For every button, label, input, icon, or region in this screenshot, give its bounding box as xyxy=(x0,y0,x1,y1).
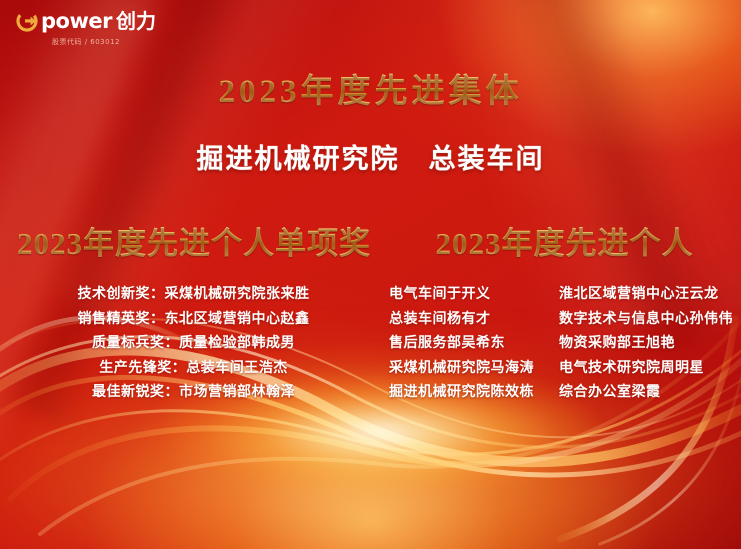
individual-awards-list: 电气车间于开义 淮北区域营销中心汪云龙 总装车间杨有才 数字技术与信息中心孙伟伟… xyxy=(387,283,741,406)
list-item: 销售精英奖：东北区域营销中心赵鑫 xyxy=(0,308,387,333)
table-row: 总装车间杨有才 数字技术与信息中心孙伟伟 xyxy=(389,308,741,333)
list-item: 生产先锋奖：总装车间王浩杰 xyxy=(0,357,387,382)
list-item: 采煤机械研究院马海涛 xyxy=(389,357,559,382)
list-item: 物资采购部王旭艳 xyxy=(559,332,739,357)
main-title: 2023年度先进集体 xyxy=(0,64,741,112)
special-awards-list: 技术创新奖：采煤机械研究院张来胜 销售精英奖：东北区域营销中心赵鑫 质量标兵奖：… xyxy=(0,283,387,406)
table-row: 电气车间于开义 淮北区域营销中心汪云龙 xyxy=(389,283,741,308)
list-item: 售后服务部吴希东 xyxy=(389,332,559,357)
list-item: 数字技术与信息中心孙伟伟 xyxy=(559,308,739,333)
section-headings: 2023年度先进个人单项奖 2023年度先进个人 xyxy=(0,218,741,263)
award-poster: power 创力 股票代码 / 603012 2023年度先进集体 掘进机械研究… xyxy=(0,0,741,549)
section-heading-special-awards: 2023年度先进个人单项奖 xyxy=(0,218,388,263)
collective-winners: 掘进机械研究院 总装车间 xyxy=(0,137,741,176)
list-item: 电气车间于开义 xyxy=(389,283,559,308)
list-item: 淮北区域营销中心汪云龙 xyxy=(559,283,739,308)
list-item: 技术创新奖：采煤机械研究院张来胜 xyxy=(0,283,387,308)
list-item: 最佳新锐奖：市场营销部林翰泽 xyxy=(0,381,387,406)
table-row: 售后服务部吴希东 物资采购部王旭艳 xyxy=(389,332,741,357)
list-item: 掘进机械研究院陈效栋 xyxy=(389,381,559,406)
list-item: 电气技术研究院周明星 xyxy=(559,357,739,382)
c-arrow-power-icon xyxy=(16,10,38,32)
company-logo[interactable]: power 创力 股票代码 / 603012 xyxy=(16,10,156,47)
list-item: 综合办公室梁霞 xyxy=(559,381,739,406)
table-row: 采煤机械研究院马海涛 电气技术研究院周明星 xyxy=(389,357,741,382)
list-item: 质量标兵奖：质量检验部韩成男 xyxy=(0,332,387,357)
list-item: 总装车间杨有才 xyxy=(389,308,559,333)
table-row: 掘进机械研究院陈效栋 综合办公室梁霞 xyxy=(389,381,741,406)
logo-wordmark: power xyxy=(41,11,112,32)
logo-wordmark-cn: 创力 xyxy=(116,11,156,31)
section-heading-individuals: 2023年度先进个人 xyxy=(388,218,741,263)
stock-code-label: 股票代码 / 603012 xyxy=(16,37,156,47)
award-lists: 技术创新奖：采煤机械研究院张来胜 销售精英奖：东北区域营销中心赵鑫 质量标兵奖：… xyxy=(0,283,741,406)
